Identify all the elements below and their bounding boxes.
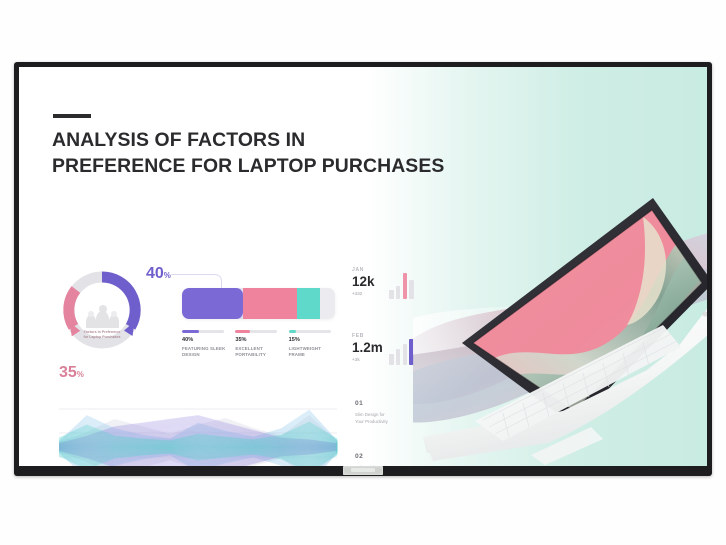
stacked-bar-segment-0 [182, 288, 243, 319]
laptop-product-image [413, 175, 707, 465]
kpi-feb-sparkline [389, 339, 414, 365]
kpi-feb-text: FEB 1.2m +3k [352, 333, 389, 362]
kpi-jan-month: JAN [352, 267, 389, 273]
spark-bar-0 [389, 290, 394, 299]
stacked-bar-chart [182, 288, 335, 319]
legend-fill-1 [235, 330, 250, 333]
legend-pct-1: 35% [235, 337, 288, 343]
spark-bar-1 [396, 286, 401, 299]
spark-bar-1 [396, 349, 401, 365]
monitor-stand-logo [343, 466, 383, 475]
donut-chart: Factors in Preference for Laptop Purchas… [56, 264, 148, 356]
legend-item-0: 40%FEATURING SLEEKDESIGN [182, 330, 235, 359]
waveform-chart [55, 395, 341, 466]
legend-label-2: LIGHTWEIGHTFRAME [289, 346, 342, 359]
kpi-feb-value: 1.2m [352, 340, 389, 356]
legend-pct-0: 40% [182, 337, 235, 343]
legend-item-1: 35%EXCELLENTPORTABILITY [235, 330, 288, 359]
title-accent-dash [53, 114, 91, 118]
stacked-bar-legend: 40%FEATURING SLEEKDESIGN35%EXCELLENTPORT… [182, 330, 342, 359]
people-icon [84, 308, 120, 328]
donut-label-40: 40% [146, 265, 171, 283]
legend-fill-2 [289, 330, 297, 333]
legend-label-0: FEATURING SLEEKDESIGN [182, 346, 235, 359]
kpi-jan-sparkline [389, 273, 414, 299]
kpi-jan-delta: +432 [352, 291, 389, 296]
page-title-line-1: ANALYSIS OF FACTORS IN [52, 128, 442, 154]
kpi-feb-month: FEB [352, 333, 389, 339]
monitor-device: ANALYSIS OF FACTORS IN PREFERENCE FOR LA… [14, 62, 712, 476]
donut-center-label: Factors in Preference for Laptop Purchas… [73, 330, 131, 340]
legend-track-2 [289, 330, 331, 333]
page-title-line-2: PREFERENCE FOR LAPTOP PURCHASES [52, 154, 442, 180]
donut-center-content: Factors in Preference for Laptop Purchas… [72, 282, 132, 340]
screenshot-canvas: ANALYSIS OF FACTORS IN PREFERENCE FOR LA… [0, 0, 726, 545]
legend-track-0 [182, 330, 224, 333]
legend-label-1: EXCELLENTPORTABILITY [235, 346, 288, 359]
page-title: ANALYSIS OF FACTORS IN PREFERENCE FOR LA… [52, 128, 442, 180]
stacked-bar-segment-1 [243, 288, 297, 319]
kpi-jan-text: JAN 12k +432 [352, 267, 389, 296]
legend-item-2: 15%LIGHTWEIGHTFRAME [289, 330, 342, 359]
kpi-jan-value: 12k [352, 274, 389, 290]
legend-fill-0 [182, 330, 199, 333]
monitor-screen: ANALYSIS OF FACTORS IN PREFERENCE FOR LA… [19, 67, 707, 466]
presentation-slide: ANALYSIS OF FACTORS IN PREFERENCE FOR LA… [19, 67, 707, 466]
donut-label-35: 35% [59, 364, 84, 382]
legend-track-1 [235, 330, 277, 333]
spark-bar-0 [389, 354, 394, 365]
legend-pct-2: 15% [289, 337, 342, 343]
spark-bar-2 [403, 273, 408, 299]
stacked-bar-segment-2 [297, 288, 320, 319]
kpi-feb-delta: +3k [352, 357, 389, 362]
spark-bar-2 [403, 344, 408, 365]
